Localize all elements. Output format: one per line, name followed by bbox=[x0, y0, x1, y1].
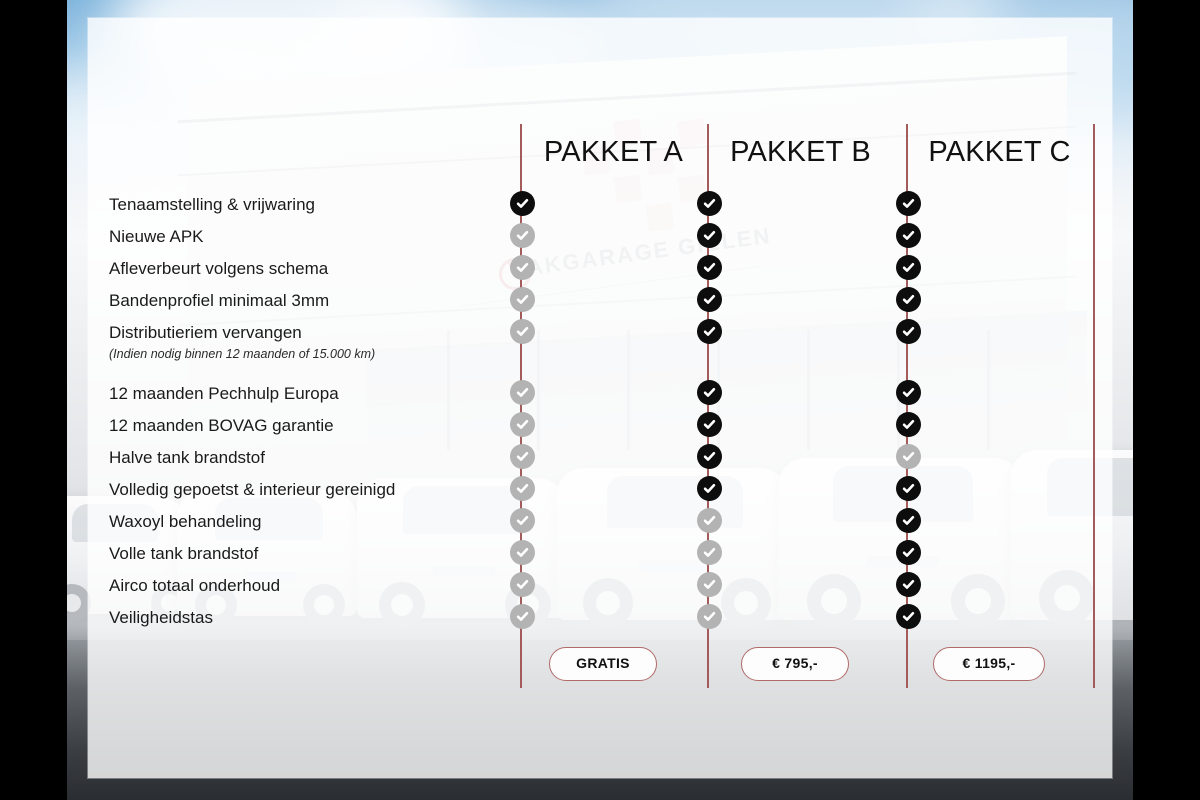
check-circle-icon bbox=[896, 412, 921, 437]
feature-label: 12 maanden Pechhulp Europa bbox=[109, 383, 339, 405]
check-circle-icon bbox=[896, 572, 921, 597]
check-circle-icon bbox=[510, 444, 535, 469]
feature-label: Waxoyl behandeling bbox=[109, 511, 261, 533]
check-circle-icon bbox=[896, 319, 921, 344]
feature-label: Bandenprofiel minimaal 3mm bbox=[109, 290, 329, 312]
check-circle-icon bbox=[510, 223, 535, 248]
check-circle-icon bbox=[896, 444, 921, 469]
check-circle-icon bbox=[510, 604, 535, 629]
column-header-row: PAKKET A PAKKET B PAKKET C bbox=[88, 136, 1112, 176]
feature-label: Airco totaal onderhoud bbox=[109, 575, 280, 597]
check-circle-icon bbox=[510, 319, 535, 344]
check-circle-icon bbox=[896, 380, 921, 405]
check-circle-icon bbox=[697, 508, 722, 533]
check-circle-icon bbox=[510, 380, 535, 405]
check-circle-icon bbox=[697, 540, 722, 565]
column-divider bbox=[1093, 124, 1095, 688]
check-circle-icon bbox=[697, 476, 722, 501]
check-circle-icon bbox=[697, 287, 722, 312]
check-circle-icon bbox=[510, 572, 535, 597]
feature-label: 12 maanden BOVAG garantie bbox=[109, 415, 334, 437]
check-circle-icon bbox=[697, 255, 722, 280]
check-circle-icon bbox=[896, 223, 921, 248]
check-circle-icon bbox=[697, 444, 722, 469]
price-pill-c[interactable]: € 1195,- bbox=[933, 647, 1045, 681]
check-circle-icon bbox=[510, 191, 535, 216]
feature-label: Veiligheidstas bbox=[109, 607, 213, 629]
column-header-b: PAKKET B bbox=[707, 136, 894, 169]
check-circle-icon bbox=[697, 380, 722, 405]
feature-label: Volledig gepoetst & interieur gereinigd bbox=[109, 479, 395, 501]
check-circle-icon bbox=[510, 255, 535, 280]
check-circle-icon bbox=[896, 287, 921, 312]
feature-label: Distributieriem vervangen bbox=[109, 322, 302, 344]
check-circle-icon bbox=[896, 604, 921, 629]
feature-label: Volle tank brandstof bbox=[109, 543, 258, 565]
feature-label: Halve tank brandstof bbox=[109, 447, 265, 469]
feature-label: Tenaamstelling & vrijwaring bbox=[109, 194, 315, 216]
check-circle-icon bbox=[896, 508, 921, 533]
check-circle-icon bbox=[510, 412, 535, 437]
check-circle-icon bbox=[510, 508, 535, 533]
check-circle-icon bbox=[510, 540, 535, 565]
check-circle-icon bbox=[697, 319, 722, 344]
price-pill-a[interactable]: GRATIS bbox=[549, 647, 657, 681]
check-circle-icon bbox=[896, 476, 921, 501]
column-header-a: PAKKET A bbox=[520, 136, 707, 169]
check-circle-icon bbox=[896, 540, 921, 565]
check-circle-icon bbox=[697, 604, 722, 629]
check-circle-icon bbox=[510, 476, 535, 501]
feature-label: Nieuwe APK bbox=[109, 226, 204, 248]
feature-label: Afleverbeurt volgens schema bbox=[109, 258, 328, 280]
comparison-card: PAKKET A PAKKET B PAKKET C Tenaamstellin… bbox=[88, 18, 1112, 778]
feature-sub-note: (Indien nodig binnen 12 maanden of 15.00… bbox=[109, 346, 375, 362]
check-circle-icon bbox=[510, 287, 535, 312]
screenshot-stage: VAKGARAGE GIELEN bbox=[0, 0, 1200, 800]
column-header-c: PAKKET C bbox=[906, 136, 1093, 169]
check-circle-icon bbox=[697, 223, 722, 248]
check-circle-icon bbox=[896, 191, 921, 216]
price-pill-b[interactable]: € 795,- bbox=[741, 647, 849, 681]
check-circle-icon bbox=[697, 412, 722, 437]
check-circle-icon bbox=[697, 572, 722, 597]
check-circle-icon bbox=[896, 255, 921, 280]
check-circle-icon bbox=[697, 191, 722, 216]
